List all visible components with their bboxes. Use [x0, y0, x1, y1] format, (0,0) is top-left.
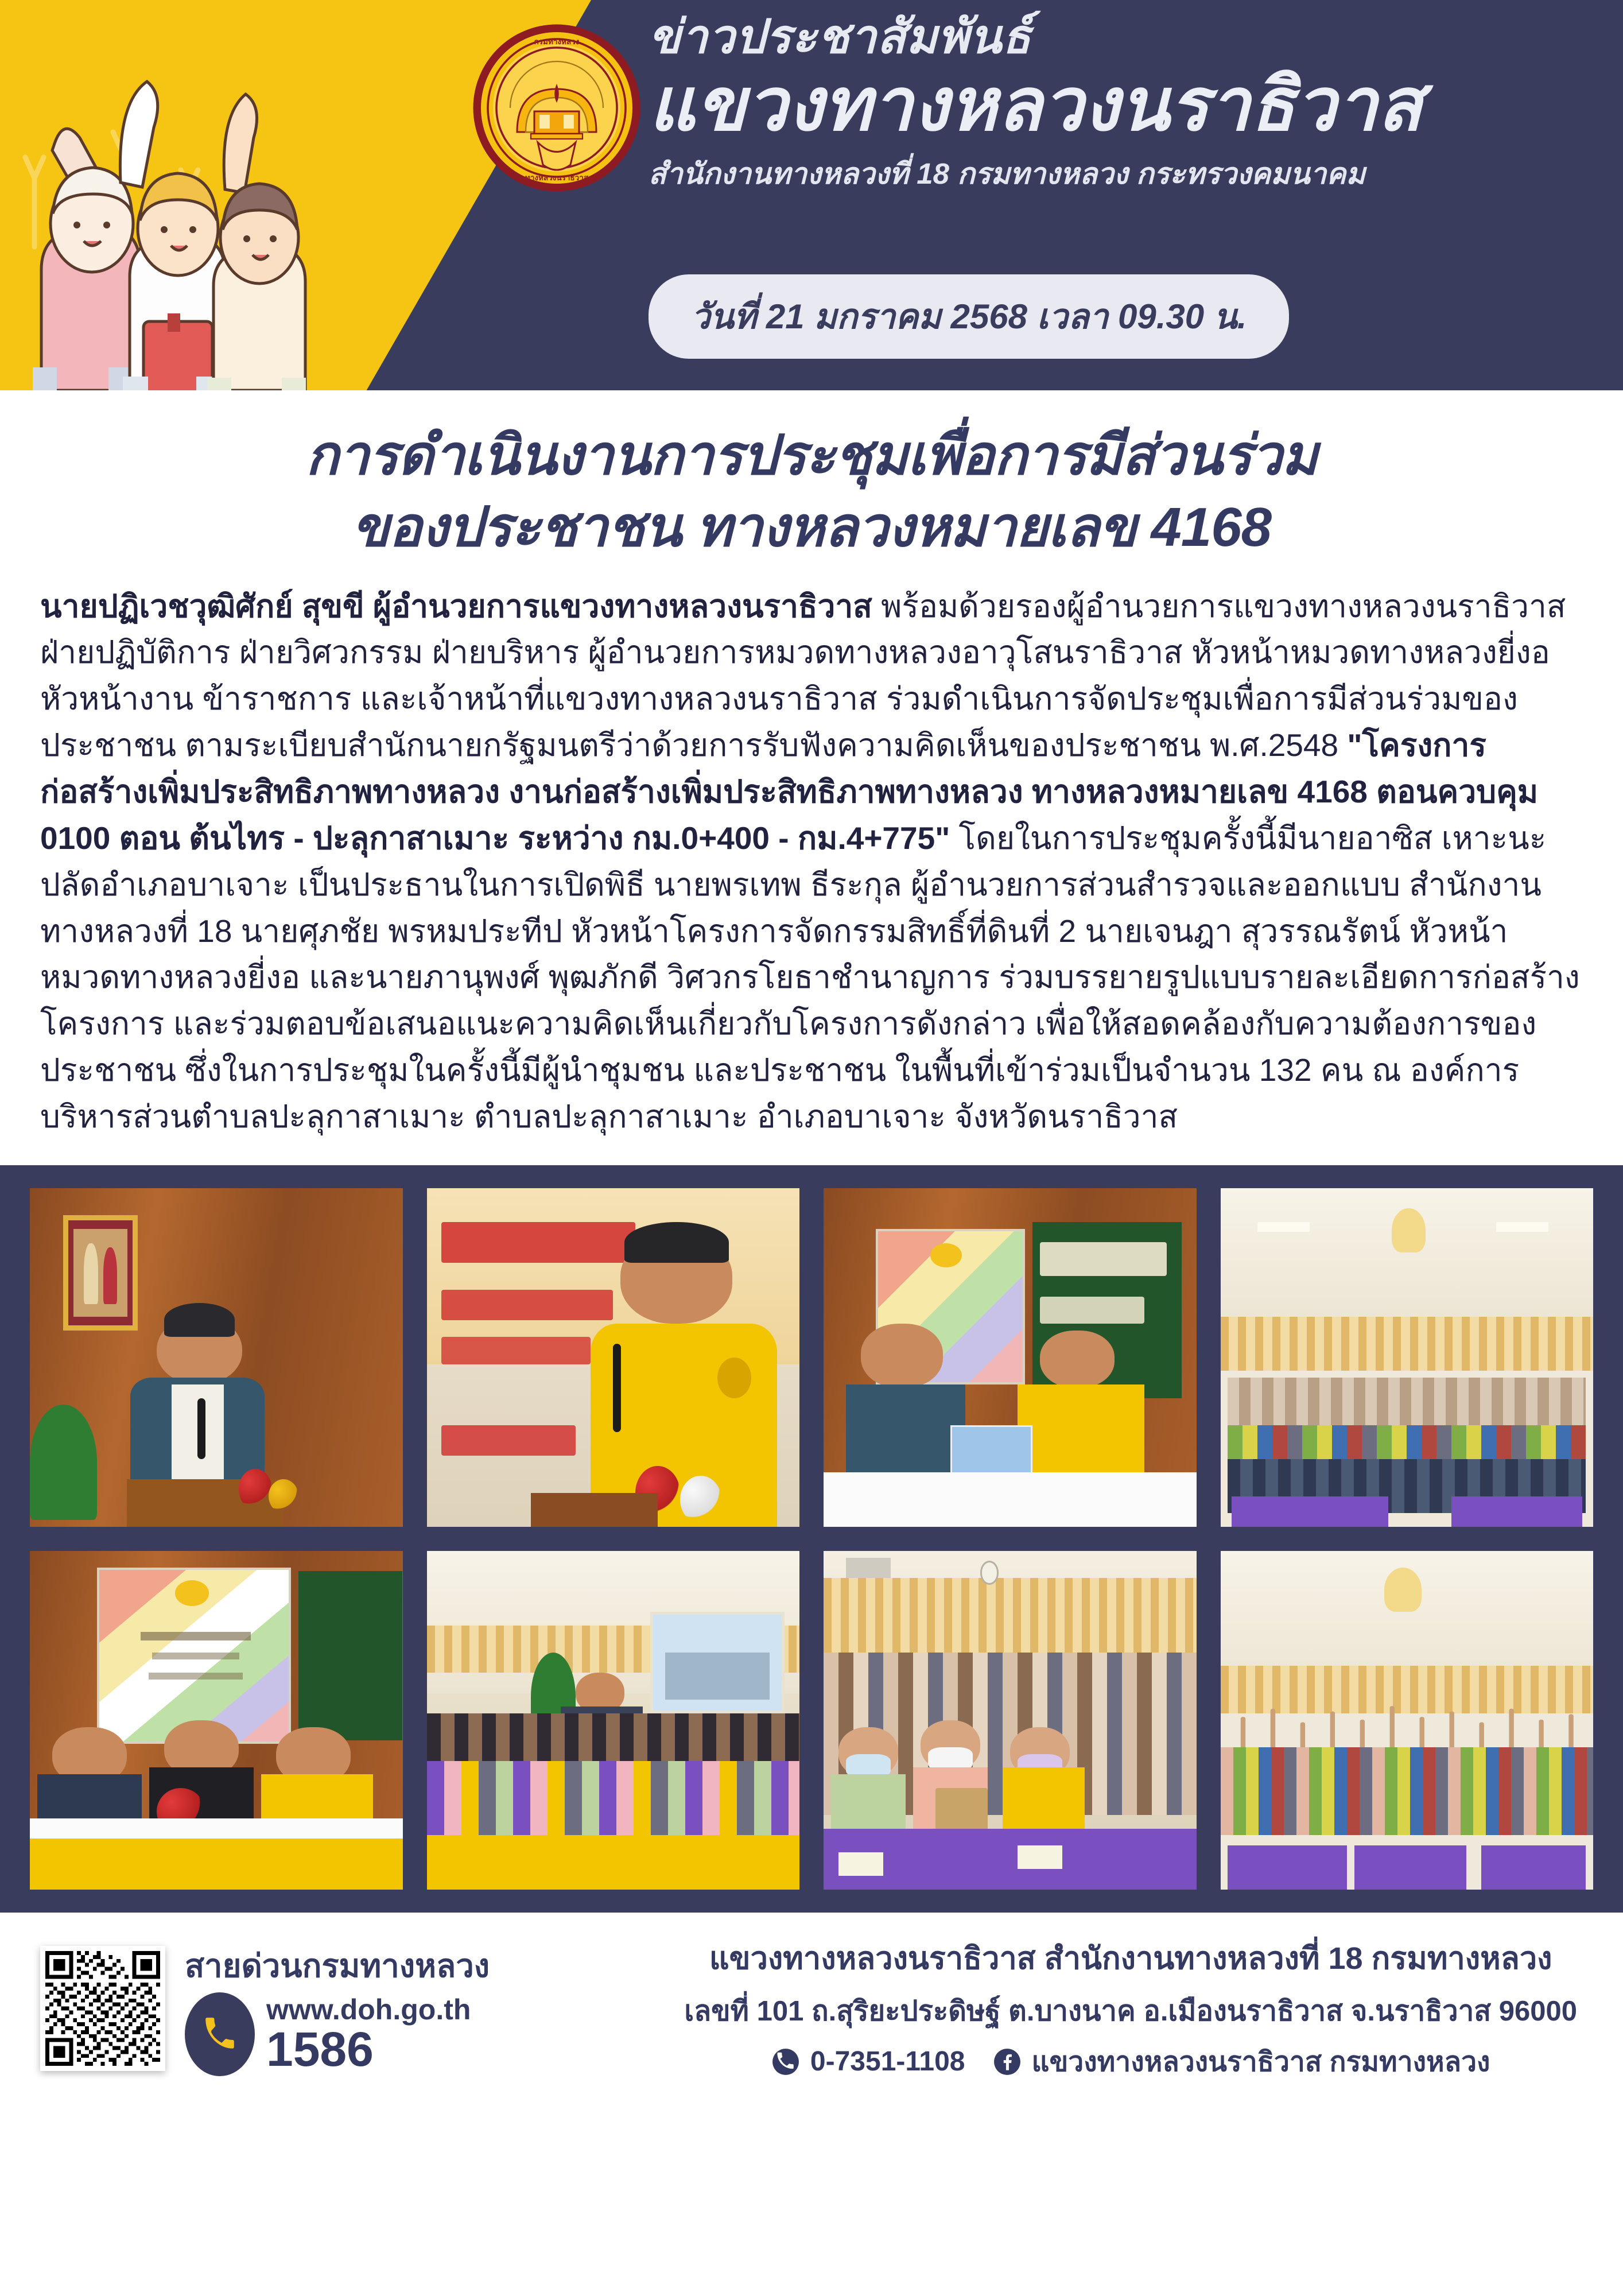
- chandelier-icon: [1392, 1208, 1425, 1252]
- office-facebook[interactable]: แขวงทางหลวงนราธิวาส กรมทางหลวง: [1032, 2040, 1490, 2084]
- hotline-block: สายด่วนกรมทางหลวง www.doh.go.th 1586: [40, 1940, 490, 2076]
- photo-presenter-and-audience: [427, 1551, 800, 1890]
- photo-certificate-handover: [824, 1188, 1197, 1527]
- hotline-title: สายด่วนกรมทางหลวง: [185, 1940, 490, 1991]
- page-header: กรมทางหลวง ทางหลวงนราธิวาส ข่าวประชาสัมพ…: [0, 0, 1623, 390]
- photo-gallery: [0, 1165, 1623, 1913]
- photo-audience-raising-hands: [1221, 1551, 1594, 1890]
- page-title-line2: ของประชาชน ทางหลวงหมายเลข 4168: [40, 492, 1583, 564]
- illustration-person-c: [213, 94, 305, 390]
- office-name: แขวงทางหลวงนราธิวาส สำนักงานทางหลวงที่ 1…: [684, 1933, 1577, 1983]
- illustration-person-b: [120, 82, 225, 390]
- facebook-icon: [993, 2047, 1022, 2076]
- article-body: นายปฏิเวชวุฒิศักย์ สุขขี ผู้อำนวยการแขวง…: [40, 583, 1583, 1140]
- royal-portrait: [63, 1215, 138, 1331]
- photo-audience-seated: [824, 1551, 1197, 1890]
- office-address: เลขที่ 101 ถ.สุริยะประดิษฐ์ ต.บางนาค อ.เ…: [684, 1988, 1577, 2033]
- department-of-highways-seal-icon: กรมทางหลวง ทางหลวงนราธิวาส: [471, 22, 643, 194]
- photo-row-2: [30, 1551, 1593, 1890]
- header-org-sub: สำนักงานทางหลวงที่ 18 กรมทางหลวง กระทรวง…: [649, 150, 1601, 197]
- qr-code[interactable]: [40, 1946, 165, 2071]
- main-content: การดำเนินงานการประชุมเพื่อการมีส่วนร่วม …: [0, 390, 1623, 1140]
- raised-hands-icon: [1221, 1700, 1594, 1754]
- event-date-badge: วันที่ 21 มกราคม 2568 เวลา 09.30 น.: [649, 274, 1289, 359]
- office-contact-block: แขวงทางหลวงนราธิวาส สำนักงานทางหลวงที่ 1…: [684, 1933, 1583, 2084]
- header-org-name: แขวงทางหลวงนราธิวาส: [649, 65, 1601, 145]
- chandelier-icon: [1384, 1568, 1422, 1612]
- photo-speaker-at-podium: [30, 1188, 403, 1527]
- qr-code-icon: [45, 1951, 160, 2066]
- phone-icon: [771, 2047, 800, 2076]
- body-segment-1: นายปฏิเวชวุฒิศักย์ สุขขี ผู้อำนวยการแขวง…: [40, 588, 872, 624]
- photo-group-photo-hall: [1221, 1188, 1594, 1527]
- office-tel[interactable]: 0-7351-1108: [810, 2046, 965, 2077]
- page-title-line1: การดำเนินงานการประชุมเพื่อการมีส่วนร่วม: [306, 425, 1318, 486]
- phone-handset-icon: [201, 2015, 239, 2053]
- header-kicker: ข่าวประชาสัมพันธ์: [649, 13, 1601, 62]
- photo-official-yellow-shirt-microphone: [427, 1188, 800, 1527]
- svg-text:กรมทางหลวง: กรมทางหลวง: [534, 37, 580, 46]
- hotline-website[interactable]: www.doh.go.th: [266, 1995, 471, 2025]
- photo-row-1: [30, 1188, 1593, 1527]
- photo-panel-table-presentation: [30, 1551, 403, 1890]
- hotline-number: 1586: [266, 2025, 471, 2074]
- page-footer: สายด่วนกรมทางหลวง www.doh.go.th 1586 แขว…: [0, 1913, 1623, 2101]
- body-segment-4: โดยในการประชุมครั้งนี้มีนายอาซิส เหาะนะ …: [40, 820, 1580, 1134]
- svg-text:ทางหลวงนราธิวาส: ทางหลวงนราธิวาส: [525, 173, 589, 182]
- page-title: การดำเนินงานการประชุมเพื่อการมีส่วนร่วม …: [40, 420, 1583, 564]
- phone-icon: [185, 1992, 255, 2076]
